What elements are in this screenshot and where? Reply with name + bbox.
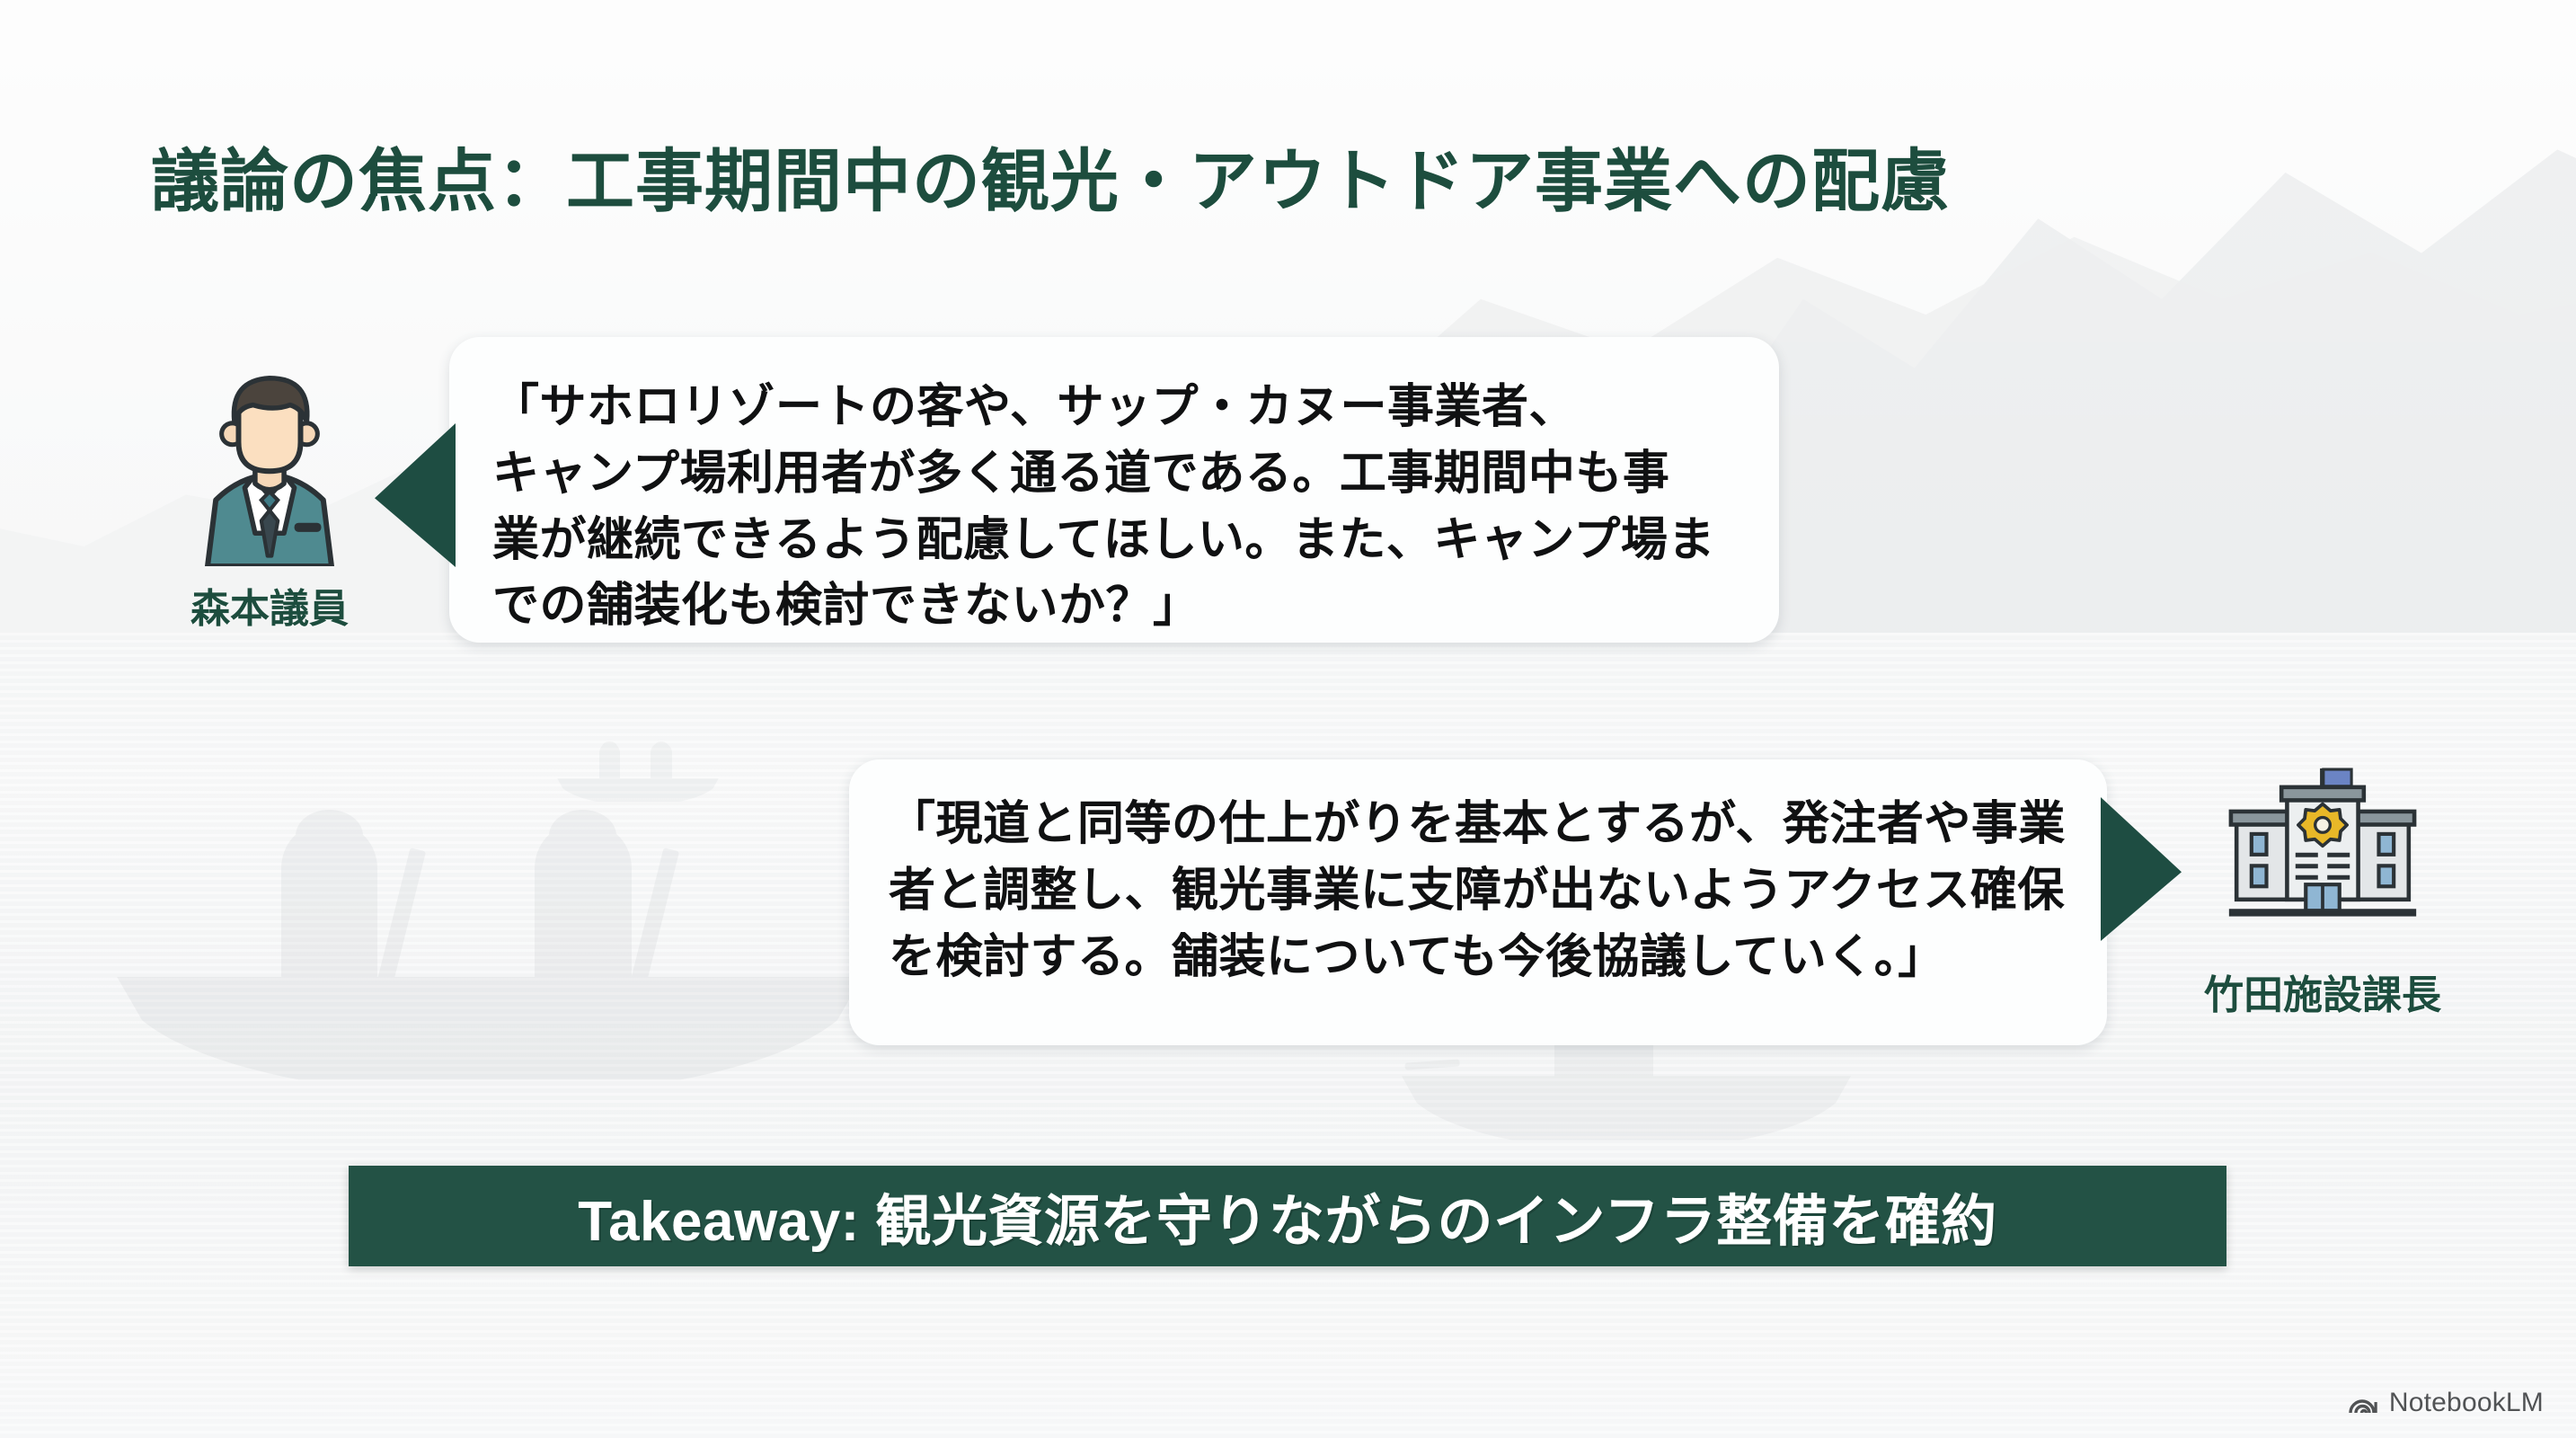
watermark-label: NotebookLM: [2389, 1388, 2544, 1418]
quote-line: での舗装化も検討できないか？」: [492, 573, 1743, 640]
speaker-takeda: 竹田施設課長: [2152, 764, 2493, 1020]
speaker-name-label: 竹田施設課長: [2152, 963, 2493, 1020]
person-suit-avatar-icon: [166, 359, 373, 566]
quote-line: を検討する。舗装についても今後協議していく。」: [889, 925, 2067, 991]
speech-bubble-takeda: 「現道と同等の仕上がりを基本とするが、発注者や事業 者と調整し、観光事業に支障が…: [849, 759, 2107, 1045]
quote-line: 業が継続できるよう配慮してほしい。また、キャンプ場ま: [492, 508, 1743, 574]
government-building-icon: [2210, 764, 2435, 953]
quote-line: キャンプ場利用者が多く通る道である。工事期間中も事: [492, 441, 1743, 508]
quote-line: 者と調整し、観光事業に支障が出ないようアクセス確保: [889, 858, 2067, 925]
notebooklm-watermark: NotebookLM: [2348, 1388, 2544, 1418]
speech-bubble-text: 「サホロリゾートの客や、サップ・カヌー事業者、 キャンプ場利用者が多く通る道であ…: [492, 375, 1743, 640]
page-title: 議論の焦点：工事期間中の観光・アウトドア事業への配慮: [151, 126, 2451, 225]
speech-bubble-morimoto: 「サホロリゾートの客や、サップ・カヌー事業者、 キャンプ場利用者が多く通る道であ…: [449, 337, 1779, 643]
quote-line: 「現道と同等の仕上がりを基本とするが、発注者や事業: [889, 792, 2067, 858]
slide-canvas: 議論の焦点：工事期間中の観光・アウトドア事業への配慮 森本議員: [0, 0, 2576, 1438]
takeaway-label: Takeaway: 観光資源を守りながらのインフラ整備を確約: [578, 1176, 1996, 1256]
takeaway-banner: Takeaway: 観光資源を守りながらのインフラ整備を確約: [349, 1166, 2226, 1266]
notebooklm-arc-icon: [2348, 1391, 2378, 1415]
speech-bubble-text: 「現道と同等の仕上がりを基本とするが、発注者や事業 者と調整し、観光事業に支障が…: [889, 792, 2067, 990]
speaker-morimoto: 森本議員: [135, 359, 404, 634]
speaker-name-label: 森本議員: [135, 576, 404, 634]
quote-line: 「サホロリゾートの客や、サップ・カヌー事業者、: [492, 375, 1743, 441]
